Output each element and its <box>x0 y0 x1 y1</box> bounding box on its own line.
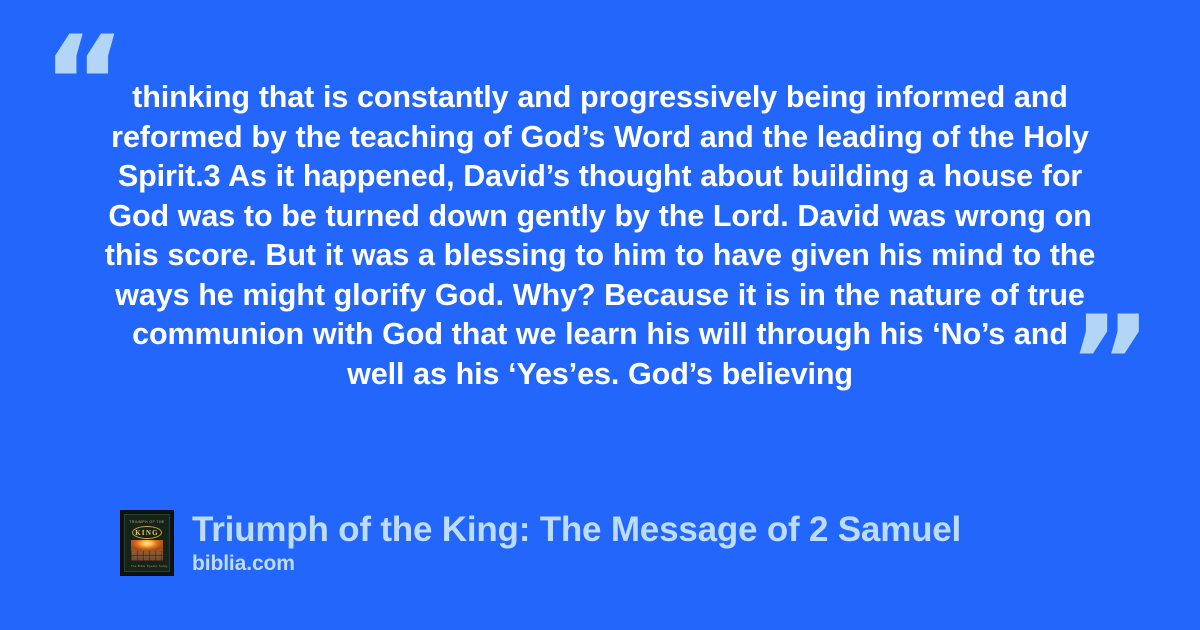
book-cover-frame: TRIUMPH OF THE KING The Bible Speaks Tod… <box>124 514 170 572</box>
quote-card: “ thinking that is constantly and progre… <box>0 0 1200 630</box>
site-name[interactable]: biblia.com <box>192 552 961 576</box>
book-cover-artwork-grid <box>131 551 163 561</box>
book-cover-series-label: TRIUMPH OF THE <box>125 520 169 524</box>
attribution-text: Triumph of the King: The Message of 2 Sa… <box>192 510 961 576</box>
book-cover-artwork <box>131 540 163 561</box>
attribution[interactable]: TRIUMPH OF THE KING The Bible Speaks Tod… <box>120 510 961 576</box>
book-cover-author-label: The Bible Speaks Today <box>131 564 163 568</box>
book-cover-thumbnail[interactable]: TRIUMPH OF THE KING The Bible Speaks Tod… <box>120 510 174 576</box>
quote-text-block: thinking that is constantly and progress… <box>104 78 1096 394</box>
book-cover-title-label: KING <box>132 526 162 539</box>
quote-text: thinking that is constantly and progress… <box>104 78 1096 394</box>
book-title[interactable]: Triumph of the King: The Message of 2 Sa… <box>192 510 961 550</box>
close-quote-icon: ” <box>1068 300 1152 428</box>
